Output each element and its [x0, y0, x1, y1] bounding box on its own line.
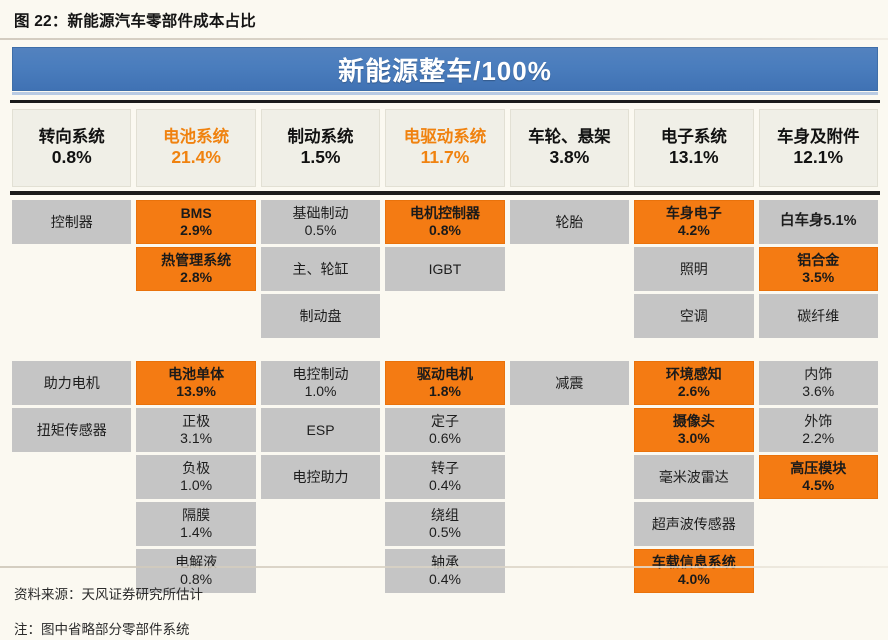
- component-column: 电机控制器0.8%IGBT驱动电机1.8%定子0.6%转子0.4%绕组0.5%轴…: [385, 200, 504, 596]
- component-percentage: 3.0%: [678, 430, 710, 447]
- component-percentage: 3.5%: [802, 269, 834, 286]
- component-cell[interactable]: 轴承0.4%: [385, 549, 504, 593]
- component-column: 控制器助力电机扭矩传感器: [12, 200, 131, 596]
- component-cell-empty: [510, 549, 629, 593]
- system-name: 车轮、悬架: [528, 127, 611, 147]
- component-cell[interactable]: 控制器: [12, 200, 131, 244]
- component-name: 铝合金: [797, 252, 839, 269]
- system-name: 制动系统: [288, 127, 354, 147]
- figure-note: 注：图中省略部分零部件系统: [14, 618, 190, 638]
- figure-caption: 图 22：新能源汽车零部件成本占比: [14, 9, 256, 31]
- component-cell-empty: [759, 549, 878, 593]
- component-percentage: 3.6%: [802, 383, 834, 400]
- component-name: 车身电子: [666, 205, 722, 222]
- component-percentage: 1.0%: [180, 477, 212, 494]
- component-cell[interactable]: IGBT: [385, 247, 504, 291]
- component-slot: 负极1.0%: [136, 455, 255, 499]
- component-percentage: 1.0%: [305, 383, 337, 400]
- component-name: 驱动电机: [417, 366, 473, 383]
- component-slot: [385, 294, 504, 338]
- system-percentage: 0.8%: [52, 147, 92, 168]
- component-slot: 正极3.1%: [136, 408, 255, 452]
- component-name: 毫米波雷达: [659, 469, 729, 486]
- banner-underline: [12, 92, 878, 95]
- component-name: 助力电机: [44, 375, 100, 392]
- component-cell-empty: [136, 294, 255, 338]
- component-name: 扭矩传感器: [37, 422, 107, 439]
- component-name: 轮胎: [555, 214, 583, 231]
- component-cell-empty: [12, 247, 131, 291]
- component-name: 减震: [555, 375, 583, 392]
- component-slot: 毫米波雷达: [634, 455, 753, 499]
- component-percentage: 0.4%: [429, 477, 461, 494]
- top-banner: 新能源整车/100%: [12, 47, 878, 95]
- component-name: 摄像头: [673, 413, 715, 430]
- component-cell[interactable]: 内饰3.6%: [759, 361, 878, 405]
- component-slot: [12, 294, 131, 338]
- component-name: 白车身5.1%: [780, 213, 857, 230]
- component-name: 热管理系统: [161, 252, 231, 269]
- component-cell[interactable]: 绕组0.5%: [385, 502, 504, 546]
- component-cell[interactable]: 驱动电机1.8%: [385, 361, 504, 405]
- component-slot: 电控助力: [261, 455, 380, 499]
- component-cell[interactable]: 超声波传感器: [634, 502, 753, 546]
- component-column: 白车身5.1%铝合金3.5%碳纤维内饰3.6%外饰2.2%高压模块4.5%: [759, 200, 878, 596]
- figure-page: 图 22：新能源汽车零部件成本占比 新能源整车/100% 转向系统0.8%电池系…: [0, 0, 888, 640]
- component-slot: [12, 455, 131, 499]
- component-slot: 摄像头3.0%: [634, 408, 753, 452]
- component-column: 车身电子4.2%照明空调环境感知2.6%摄像头3.0%毫米波雷达超声波传感器车载…: [634, 200, 753, 596]
- component-percentage: 13.9%: [176, 383, 216, 400]
- component-name: 外饰: [804, 413, 832, 430]
- block-spacer: [759, 341, 878, 361]
- block-spacer: [12, 341, 131, 361]
- system-name: 车身及附件: [777, 127, 860, 147]
- component-name: 环境感知: [666, 366, 722, 383]
- component-slot: 电控制动1.0%: [261, 361, 380, 405]
- component-column: 基础制动0.5%主、轮缸制动盘电控制动1.0%ESP电控助力: [261, 200, 380, 596]
- component-name: 主、轮缸: [293, 261, 349, 278]
- component-percentage: 0.5%: [305, 222, 337, 239]
- component-name: 电解液: [175, 554, 217, 571]
- component-column: BMS2.9%热管理系统2.8%电池单体13.9%正极3.1%负极1.0%隔膜1…: [136, 200, 255, 596]
- component-slot: BMS2.9%: [136, 200, 255, 244]
- component-slot: [759, 549, 878, 593]
- component-slot: 热管理系统2.8%: [136, 247, 255, 291]
- component-cell[interactable]: 基础制动0.5%: [261, 200, 380, 244]
- component-slot: [261, 549, 380, 593]
- component-cell-empty: [385, 294, 504, 338]
- caption-divider: [0, 38, 888, 40]
- component-cell[interactable]: 转子0.4%: [385, 455, 504, 499]
- component-name: ESP: [307, 422, 335, 439]
- component-percentage: 0.5%: [429, 524, 461, 541]
- component-cell[interactable]: 环境感知2.6%: [634, 361, 753, 405]
- component-percentage: 0.4%: [429, 571, 461, 588]
- component-name: BMS: [181, 205, 212, 222]
- component-cell[interactable]: 照明: [634, 247, 753, 291]
- component-cell[interactable]: 热管理系统2.8%: [136, 247, 255, 291]
- system-percentage: 11.7%: [421, 147, 470, 168]
- system-percentage: 21.4%: [171, 147, 221, 168]
- component-name: 正极: [182, 413, 210, 430]
- component-slot: 绕组0.5%: [385, 502, 504, 546]
- component-name: 电池单体: [168, 366, 224, 383]
- component-percentage: 4.0%: [678, 571, 710, 588]
- component-slot: 电机控制器0.8%: [385, 200, 504, 244]
- component-slot: [12, 502, 131, 546]
- component-cell[interactable]: 电机控制器0.8%: [385, 200, 504, 244]
- system-header-cell: 电驱动系统11.7%: [385, 109, 504, 187]
- component-cell[interactable]: 隔膜1.4%: [136, 502, 255, 546]
- system-header-cell: 电池系统21.4%: [136, 109, 255, 187]
- system-name: 电子系统: [661, 127, 727, 147]
- component-cell-empty: [759, 502, 878, 546]
- component-percentage: 2.9%: [180, 222, 212, 239]
- component-slot: 环境感知2.6%: [634, 361, 753, 405]
- component-cell-empty: [12, 455, 131, 499]
- component-cell[interactable]: 白车身5.1%: [759, 200, 878, 244]
- component-name: 转子: [431, 460, 459, 477]
- component-cell[interactable]: 铝合金3.5%: [759, 247, 878, 291]
- component-slot: 电池单体13.9%: [136, 361, 255, 405]
- component-name: 照明: [680, 261, 708, 278]
- component-slot: 制动盘: [261, 294, 380, 338]
- component-percentage: 0.8%: [429, 222, 461, 239]
- system-header-row: 转向系统0.8%电池系统21.4%制动系统1.5%电驱动系统11.7%车轮、悬架…: [12, 109, 878, 187]
- component-cell[interactable]: 电控助力: [261, 455, 380, 499]
- component-cell[interactable]: 制动盘: [261, 294, 380, 338]
- component-name: 碳纤维: [797, 308, 839, 325]
- component-name: IGBT: [429, 261, 462, 278]
- component-percentage: 4.5%: [802, 477, 834, 494]
- component-percentage: 2.8%: [180, 269, 212, 286]
- component-name: 制动盘: [300, 308, 342, 325]
- component-cell-empty: [510, 455, 629, 499]
- component-cell-empty: [510, 294, 629, 338]
- component-name: 电控助力: [293, 469, 349, 486]
- component-slot: [510, 294, 629, 338]
- component-cell-empty: [510, 502, 629, 546]
- component-slot: ESP: [261, 408, 380, 452]
- block-spacer: [510, 341, 629, 361]
- block-spacer: [634, 341, 753, 361]
- component-slot: 车身电子4.2%: [634, 200, 753, 244]
- component-cell[interactable]: 扭矩传感器: [12, 408, 131, 452]
- system-header-cell: 车轮、悬架3.8%: [510, 109, 629, 187]
- component-cell[interactable]: BMS2.9%: [136, 200, 255, 244]
- component-cell[interactable]: 电控制动1.0%: [261, 361, 380, 405]
- component-slot: 轴承0.4%: [385, 549, 504, 593]
- component-name: 绕组: [431, 507, 459, 524]
- component-cell[interactable]: 车身电子4.2%: [634, 200, 753, 244]
- component-cell[interactable]: 外饰2.2%: [759, 408, 878, 452]
- component-name: 电控制动: [293, 366, 349, 383]
- system-name: 转向系统: [39, 127, 105, 147]
- block-spacer: [385, 341, 504, 361]
- component-slot: 白车身5.1%: [759, 200, 878, 244]
- component-slot: 转子0.4%: [385, 455, 504, 499]
- component-name: 车载信息系统: [652, 554, 736, 571]
- component-slot: 隔膜1.4%: [136, 502, 255, 546]
- component-slot: 减震: [510, 361, 629, 405]
- component-percentage: 3.1%: [180, 430, 212, 447]
- system-header-cell: 转向系统0.8%: [12, 109, 131, 187]
- system-percentage: 13.1%: [669, 147, 719, 168]
- component-percentage: 1.8%: [429, 383, 461, 400]
- component-name: 轴承: [431, 554, 459, 571]
- component-cell-empty: [12, 294, 131, 338]
- component-cell[interactable]: 减震: [510, 361, 629, 405]
- component-slot: 控制器: [12, 200, 131, 244]
- component-slot: 碳纤维: [759, 294, 878, 338]
- component-slot: [510, 247, 629, 291]
- component-cell-empty: [261, 502, 380, 546]
- component-name: 高压模块: [790, 460, 846, 477]
- component-cell[interactable]: 空调: [634, 294, 753, 338]
- component-name: 负极: [182, 460, 210, 477]
- component-slot: 助力电机: [12, 361, 131, 405]
- header-rule-bottom: [10, 191, 880, 195]
- component-slot: [12, 247, 131, 291]
- system-name: 电驱动系统: [404, 127, 487, 147]
- component-cell[interactable]: 定子0.6%: [385, 408, 504, 452]
- component-slot: 扭矩传感器: [12, 408, 131, 452]
- component-cell[interactable]: 车载信息系统4.0%: [634, 549, 753, 593]
- component-name: 电机控制器: [410, 205, 480, 222]
- component-grid: 控制器助力电机扭矩传感器BMS2.9%热管理系统2.8%电池单体13.9%正极3…: [12, 200, 878, 596]
- component-slot: 外饰2.2%: [759, 408, 878, 452]
- component-slot: 定子0.6%: [385, 408, 504, 452]
- component-percentage: 1.4%: [180, 524, 212, 541]
- header-rule-top: [10, 100, 880, 103]
- component-slot: [759, 502, 878, 546]
- component-cell[interactable]: 轮胎: [510, 200, 629, 244]
- banner-bar: 新能源整车/100%: [12, 47, 878, 91]
- component-slot: [510, 408, 629, 452]
- component-slot: 照明: [634, 247, 753, 291]
- system-percentage: 3.8%: [549, 147, 589, 168]
- component-cell-empty: [510, 408, 629, 452]
- component-name: 空调: [680, 308, 708, 325]
- block-spacer: [261, 341, 380, 361]
- component-slot: 超声波传感器: [634, 502, 753, 546]
- component-slot: [136, 294, 255, 338]
- component-cell-empty: [510, 247, 629, 291]
- system-header-cell: 电子系统13.1%: [634, 109, 753, 187]
- component-slot: [261, 502, 380, 546]
- component-cell[interactable]: 助力电机: [12, 361, 131, 405]
- component-slot: 驱动电机1.8%: [385, 361, 504, 405]
- system-header-cell: 制动系统1.5%: [261, 109, 380, 187]
- component-name: 超声波传感器: [652, 516, 736, 533]
- footer-divider: [0, 566, 888, 568]
- component-slot: 高压模块4.5%: [759, 455, 878, 499]
- component-slot: 车载信息系统4.0%: [634, 549, 753, 593]
- component-slot: 基础制动0.5%: [261, 200, 380, 244]
- component-cell[interactable]: 高压模块4.5%: [759, 455, 878, 499]
- component-cell[interactable]: ESP: [261, 408, 380, 452]
- component-cell-empty: [261, 549, 380, 593]
- component-percentage: 0.6%: [429, 430, 461, 447]
- component-percentage: 2.6%: [678, 383, 710, 400]
- component-name: 隔膜: [182, 507, 210, 524]
- component-slot: [510, 502, 629, 546]
- component-name: 内饰: [804, 366, 832, 383]
- system-percentage: 1.5%: [301, 147, 341, 168]
- component-name: 控制器: [51, 214, 93, 231]
- component-percentage: 2.2%: [802, 430, 834, 447]
- source-note: 资料来源：天风证券研究所估计: [14, 583, 203, 603]
- component-name: 定子: [431, 413, 459, 430]
- block-spacer: [136, 341, 255, 361]
- system-percentage: 12.1%: [793, 147, 843, 168]
- component-slot: 铝合金3.5%: [759, 247, 878, 291]
- component-cell[interactable]: 正极3.1%: [136, 408, 255, 452]
- component-slot: IGBT: [385, 247, 504, 291]
- component-slot: 空调: [634, 294, 753, 338]
- component-slot: [510, 455, 629, 499]
- component-cell[interactable]: 主、轮缸: [261, 247, 380, 291]
- component-percentage: 4.2%: [678, 222, 710, 239]
- component-cell[interactable]: 负极1.0%: [136, 455, 255, 499]
- component-cell[interactable]: 电池单体13.9%: [136, 361, 255, 405]
- component-slot: 主、轮缸: [261, 247, 380, 291]
- component-column: 轮胎减震: [510, 200, 629, 596]
- system-name: 电池系统: [163, 127, 229, 147]
- component-cell[interactable]: 摄像头3.0%: [634, 408, 753, 452]
- component-slot: 轮胎: [510, 200, 629, 244]
- banner-title: 新能源整车/100%: [338, 51, 552, 88]
- component-slot: [510, 549, 629, 593]
- component-cell-empty: [12, 502, 131, 546]
- component-cell[interactable]: 毫米波雷达: [634, 455, 753, 499]
- component-name: 基础制动: [293, 205, 349, 222]
- component-cell[interactable]: 碳纤维: [759, 294, 878, 338]
- component-slot: 内饰3.6%: [759, 361, 878, 405]
- system-header-cell: 车身及附件12.1%: [759, 109, 878, 187]
